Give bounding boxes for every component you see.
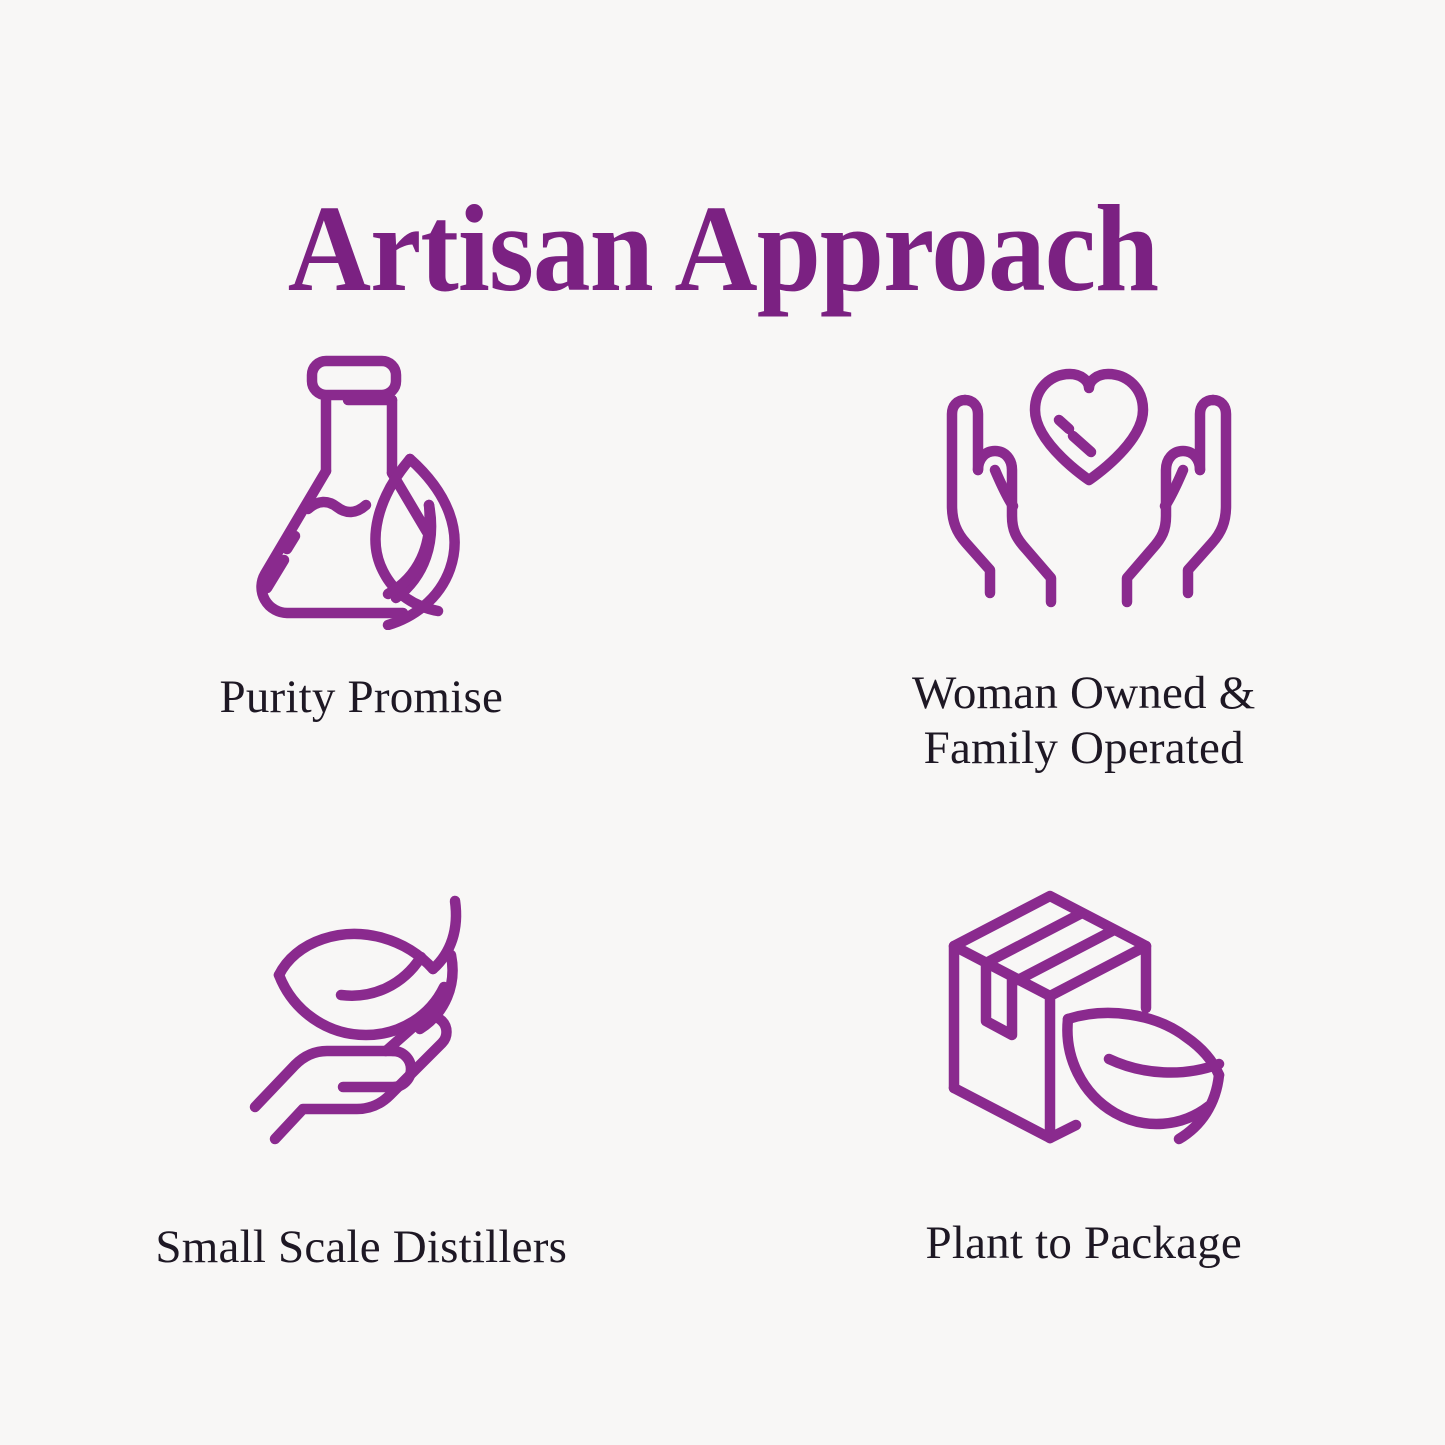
hand-leaf-icon (237, 870, 485, 1170)
page-title: Artisan Approach (287, 187, 1157, 311)
flask-leaf-icon (229, 340, 493, 640)
feature-label: Woman Owned & Family Operated (912, 666, 1255, 777)
feature-item-woman-owned: Woman Owned & Family Operated (723, 330, 1445, 840)
feature-item-plant-to-package: Plant to Package (723, 840, 1445, 1350)
feature-label: Small Scale Distillers (155, 1220, 567, 1275)
feature-label: Plant to Package (926, 1216, 1242, 1271)
feature-grid: Purity Promise (0, 330, 1445, 1350)
feature-label: Purity Promise (219, 670, 503, 725)
box-leaf-icon (932, 870, 1236, 1170)
feature-item-small-scale-distillers: Small Scale Distillers (0, 840, 723, 1350)
hands-heart-icon (929, 340, 1239, 640)
artisan-approach-poster: Artisan Approach (0, 0, 1445, 1445)
feature-item-purity-promise: Purity Promise (0, 330, 723, 840)
